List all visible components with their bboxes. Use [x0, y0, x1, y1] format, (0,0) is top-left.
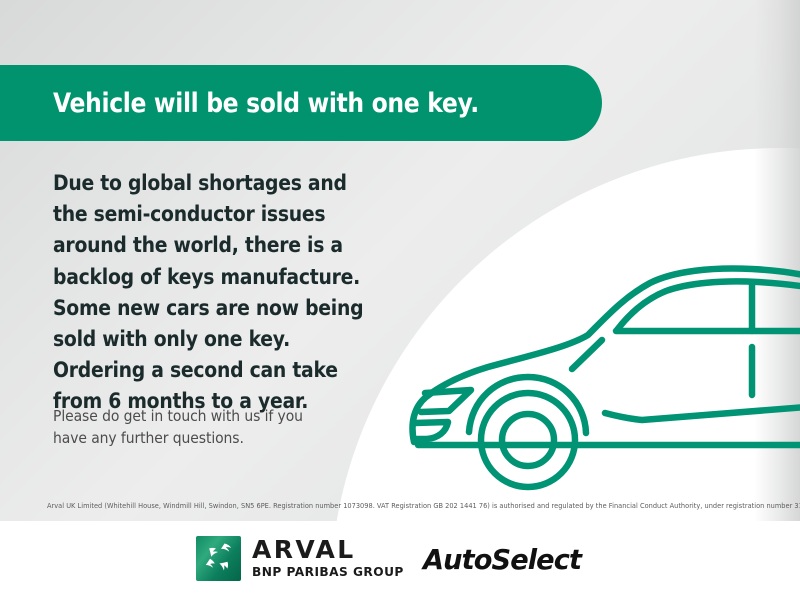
- secondary-copy: Please do get in touch with us if you ha…: [53, 405, 403, 449]
- body-line: backlog of keys manufacture.: [53, 262, 386, 293]
- autoselect-logo: AutoSelect: [423, 543, 581, 576]
- arval-wordmark: ARVAL BNP PARIBAS GROUP: [252, 537, 404, 580]
- arval-logo: ARVAL BNP PARIBAS GROUP: [196, 536, 404, 581]
- headline-text: Vehicle will be sold with one key.: [53, 88, 479, 119]
- secondary-line: Please do get in touch with us if you: [53, 405, 368, 427]
- promotional-poster: Vehicle will be sold with one key. Due t…: [0, 0, 800, 600]
- car-illustration: [392, 247, 800, 487]
- body-line: Some new cars are now being: [53, 293, 386, 324]
- body-line: the semi-conductor issues: [53, 199, 386, 230]
- legal-fine-print: Arval UK Limited (Whitehill House, Windm…: [47, 502, 800, 510]
- secondary-line: have any further questions.: [53, 427, 368, 449]
- headline-banner: Vehicle will be sold with one key.: [0, 65, 602, 141]
- body-line: Ordering a second can take: [53, 355, 386, 386]
- body-line: Due to global shortages and: [53, 168, 386, 199]
- body-copy: Due to global shortages and the semi-con…: [53, 168, 433, 418]
- bnp-paribas-stars-icon: [196, 536, 241, 581]
- body-line: around the world, there is a: [53, 230, 386, 261]
- arval-name: ARVAL: [252, 537, 404, 562]
- body-line: sold with only one key.: [53, 324, 386, 355]
- arval-tagline: BNP PARIBAS GROUP: [252, 564, 404, 580]
